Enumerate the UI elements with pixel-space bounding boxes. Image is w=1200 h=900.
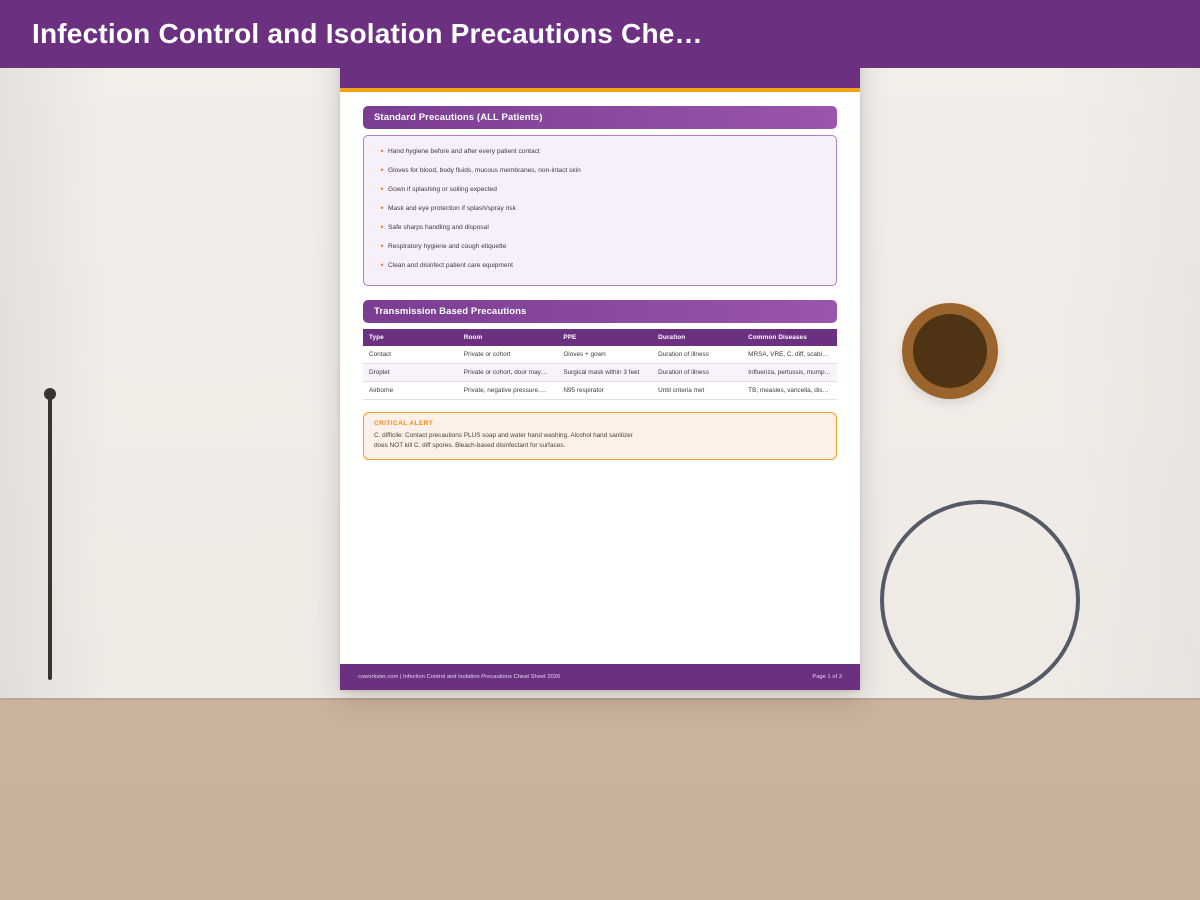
- bullet-dot-icon: •: [376, 165, 388, 176]
- scene: Standard Precautions (ALL Patients) • Ha…: [0, 0, 1200, 900]
- footer-page-label: Page 1 of 3: [812, 674, 842, 680]
- cell-ppe: N95 respirator: [557, 382, 652, 400]
- list-item-label: Safe sharps handling and disposal: [388, 222, 489, 233]
- cell-room: Private or cohort, door may…: [458, 364, 558, 382]
- section-heading-transmission-based-precautions: Transmission Based Precautions: [363, 300, 837, 323]
- page-title: Infection Control and Isolation Precauti…: [32, 18, 703, 50]
- table-header-row: Type Room PPE Duration Common Diseases: [363, 329, 837, 346]
- cell-type: Airborne: [363, 382, 458, 400]
- pen-prop: [48, 390, 52, 680]
- document-footer: coworkster.com | Infection Control and I…: [340, 664, 860, 690]
- table-row: Contact Private or cohort Gloves + gown …: [363, 346, 837, 364]
- cell-room: Private, negative pressure,…: [458, 382, 558, 400]
- list-item: • Respiratory hygiene and cough etiquett…: [376, 241, 824, 252]
- coffee-mug-inner: [913, 314, 987, 388]
- document-body: Standard Precautions (ALL Patients) • Ha…: [340, 92, 860, 460]
- column-header-room: Room: [458, 329, 558, 346]
- bullet-dot-icon: •: [376, 241, 388, 252]
- list-item-label: Gloves for blood, body fluids, mucous me…: [388, 165, 581, 176]
- list-item: • Clean and disinfect patient care equip…: [376, 260, 824, 271]
- app-title-bar: Infection Control and Isolation Precauti…: [0, 0, 1200, 68]
- list-item: • Gown if splashing or soiling expected: [376, 184, 824, 195]
- list-item-label: Clean and disinfect patient care equipme…: [388, 260, 513, 271]
- list-item: • Safe sharps handling and disposal: [376, 222, 824, 233]
- cell-diseases: MRSA, VRE, C. diff, scabies…: [742, 346, 837, 364]
- critical-alert-title: CRITICAL ALERT: [374, 420, 826, 427]
- bullet-dot-icon: •: [376, 146, 388, 157]
- section-heading-standard-precautions: Standard Precautions (ALL Patients): [363, 106, 837, 129]
- cell-duration: Until criteria met: [652, 382, 742, 400]
- cell-diseases: Influenza, pertussis, mumps…: [742, 364, 837, 382]
- table-row: Droplet Private or cohort, door may… Sur…: [363, 364, 837, 382]
- column-header-type: Type: [363, 329, 458, 346]
- bullet-dot-icon: •: [376, 203, 388, 214]
- list-item-label: Mask and eye protection if splash/spray …: [388, 203, 516, 214]
- footer-source-label: coworkster.com | Infection Control and I…: [358, 674, 560, 680]
- list-item: • Mask and eye protection if splash/spra…: [376, 203, 824, 214]
- section-spacer: [363, 286, 837, 300]
- cell-type: Droplet: [363, 364, 458, 382]
- cell-duration: Duration of illness: [652, 364, 742, 382]
- critical-alert-box: CRITICAL ALERT C. difficile: Contact pre…: [363, 412, 837, 460]
- desk-surface: [0, 700, 1200, 900]
- pen-cap-icon: [44, 388, 56, 400]
- ring-prop: [880, 500, 1080, 700]
- list-item-label: Respiratory hygiene and cough etiquette: [388, 241, 506, 252]
- column-header-duration: Duration: [652, 329, 742, 346]
- critical-alert-line-2: does NOT kill C. diff spores. Bleach-bas…: [374, 441, 826, 451]
- table-row: Airborne Private, negative pressure,… N9…: [363, 382, 837, 400]
- bullet-dot-icon: •: [376, 184, 388, 195]
- column-header-common-diseases: Common Diseases: [742, 329, 837, 346]
- cell-diseases: TB, measles, varicella, dis…: [742, 382, 837, 400]
- list-item-label: Gown if splashing or soiling expected: [388, 184, 497, 195]
- critical-alert-line-1: C. difficile: Contact precautions PLUS s…: [374, 431, 826, 441]
- cell-ppe: Gloves + gown: [557, 346, 652, 364]
- document-sheet[interactable]: Standard Precautions (ALL Patients) • Ha…: [340, 20, 860, 690]
- cell-ppe: Surgical mask within 3 feet: [557, 364, 652, 382]
- bullet-dot-icon: •: [376, 222, 388, 233]
- list-item-label: Hand hygiene before and after every pati…: [388, 146, 540, 157]
- coffee-mug-prop: [902, 303, 998, 399]
- cell-type: Contact: [363, 346, 458, 364]
- cell-room: Private or cohort: [458, 346, 558, 364]
- list-item: • Gloves for blood, body fluids, mucous …: [376, 165, 824, 176]
- list-item: • Hand hygiene before and after every pa…: [376, 146, 824, 157]
- transmission-precautions-table: Type Room PPE Duration Common Diseases C…: [363, 329, 837, 400]
- cell-duration: Duration of illness: [652, 346, 742, 364]
- column-header-ppe: PPE: [557, 329, 652, 346]
- standard-precautions-card: • Hand hygiene before and after every pa…: [363, 135, 837, 286]
- bullet-dot-icon: •: [376, 260, 388, 271]
